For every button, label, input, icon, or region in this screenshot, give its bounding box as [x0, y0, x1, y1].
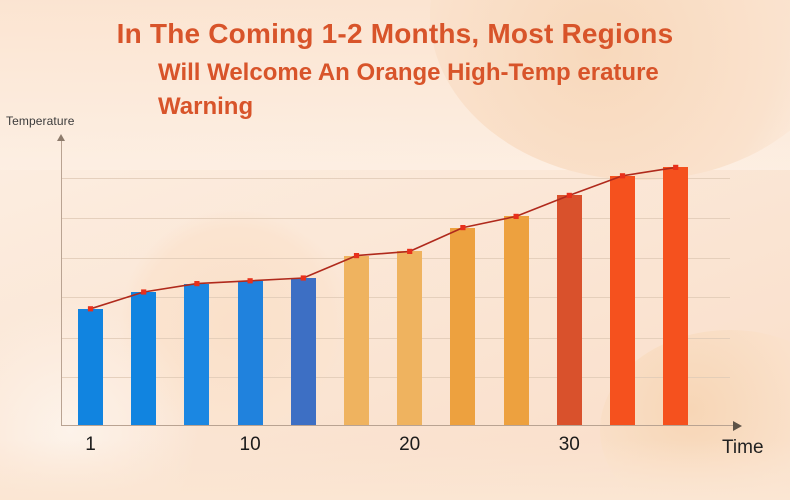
bar-1 — [78, 309, 103, 425]
bar-27 — [504, 216, 529, 425]
y-axis-arrow-icon — [57, 134, 65, 141]
plot-area: 1102030 — [0, 0, 790, 500]
bar-17 — [344, 256, 369, 425]
bar-3 — [131, 292, 156, 425]
bar-23 — [450, 228, 475, 425]
bar-6 — [184, 284, 209, 425]
y-axis-line — [61, 140, 62, 426]
x-tick-10: 10 — [240, 434, 261, 456]
bar-30 — [557, 195, 582, 425]
x-axis-title: Time — [722, 437, 764, 459]
x-axis-line — [61, 425, 737, 426]
chart-canvas: In The Coming 1-2 Months, Most Regions W… — [0, 0, 790, 500]
bar-13 — [291, 278, 316, 425]
x-tick-1: 1 — [85, 434, 96, 456]
bar-10 — [238, 281, 263, 425]
bar-20 — [397, 251, 422, 425]
bar-32 — [610, 176, 635, 425]
x-axis-arrow-icon — [733, 421, 742, 431]
x-tick-20: 20 — [399, 434, 420, 456]
bar-34 — [663, 167, 688, 425]
x-tick-30: 30 — [559, 434, 580, 456]
